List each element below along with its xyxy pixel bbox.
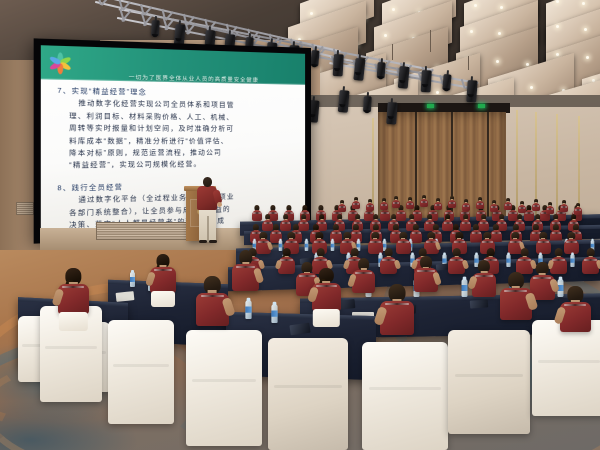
banquet-chair-cover [186, 330, 262, 446]
speaker-leg-seam [207, 216, 209, 242]
person-polo-shirt [448, 200, 456, 208]
ceiling-downlight [586, 56, 589, 59]
speaker-hand [217, 202, 222, 207]
speaker-shoe-left [199, 240, 207, 243]
exit-sign-right [478, 104, 485, 108]
person-polo-shirt [392, 200, 400, 208]
banquet-chair-cover [532, 320, 600, 416]
audience-member [352, 258, 375, 294]
slide-text-line: 周转等实时报量和计划空间，及时准确分析可 [57, 123, 297, 136]
audience-member [406, 197, 414, 209]
wall-access-panel [16, 202, 34, 215]
person-polo-shirt [476, 201, 484, 209]
lamp-body [338, 90, 350, 113]
person-polo-shirt [490, 204, 498, 212]
water-bottle [506, 254, 510, 267]
ceiling-dropper-rod [468, 56, 469, 70]
person-white-trousers [151, 291, 175, 307]
person-polo-shirt [58, 284, 89, 315]
audience-member [352, 197, 360, 209]
speaker-shoe-right [209, 240, 217, 243]
lamp-body [398, 66, 410, 89]
banquet-chair-cover [108, 320, 174, 424]
ceiling-downlight [526, 63, 529, 66]
ceiling-downlight [436, 91, 439, 94]
water-bottle [331, 240, 335, 251]
ceiling-downlight [392, 8, 395, 11]
person-polo-shirt [574, 207, 582, 215]
person-polo-shirt [504, 202, 512, 210]
person-white-trousers [313, 309, 339, 327]
person-polo-shirt [560, 204, 568, 212]
water-bottle [305, 240, 309, 251]
audience-member [500, 272, 532, 321]
lamp-body [466, 80, 478, 103]
speaker-head [203, 177, 212, 187]
audience-member [380, 284, 414, 336]
audience-member [472, 260, 496, 298]
slide-text-line: 料库成本“数据”，精准分析进行“价值评估、 [57, 135, 297, 147]
ceiling-downlight [474, 4, 477, 7]
audience-member [490, 200, 498, 212]
audience-member [560, 286, 591, 333]
person-polo-shirt [532, 203, 540, 211]
person-polo-shirt [396, 239, 411, 254]
audience-member [396, 232, 411, 254]
audience-member [462, 199, 470, 211]
audience-member [150, 254, 176, 294]
water-bottle [462, 279, 468, 297]
audience-member [366, 199, 374, 211]
water-bottle [271, 304, 277, 323]
water-bottle [130, 272, 135, 287]
person-polo-shirt [462, 203, 470, 211]
slide-header-band: 一切为了医界全体从业人员的高质量安全健康 [41, 45, 305, 85]
banquet-chair-cover [448, 330, 530, 434]
water-bottle [570, 254, 574, 267]
audience-member [448, 196, 456, 208]
banquet-chair-cover [268, 338, 348, 450]
person-polo-shirt [560, 302, 591, 333]
audience-member [380, 198, 388, 210]
lamp-body [386, 102, 398, 125]
audience-member [546, 202, 554, 214]
person-polo-shirt [536, 239, 551, 254]
ceiling-downlight [584, 28, 587, 31]
person-polo-shirt [366, 203, 374, 211]
audience-member [560, 200, 568, 212]
person-polo-shirt [434, 202, 442, 210]
person-polo-shirt [380, 202, 388, 210]
audience-member [196, 276, 229, 326]
person-polo-shirt [380, 301, 414, 335]
person-polo-shirt [352, 201, 360, 209]
ceiling-downlight [384, 34, 387, 37]
audience-member [532, 199, 540, 211]
audience-member [278, 248, 295, 274]
audience-member [434, 198, 442, 210]
ceiling-downlight [556, 0, 559, 3]
audience-member [582, 248, 599, 274]
banquet-chair-cover [362, 342, 448, 450]
audience-member [448, 248, 465, 274]
stage-radiator-grille-left [96, 222, 188, 240]
audience-member [232, 250, 259, 292]
person-polo-shirt [546, 206, 554, 214]
slide-header-title: 一切为了医界全体从业人员的高质量安全健康 [81, 47, 301, 90]
lamp-body [421, 70, 432, 92]
exit-sign-left [427, 104, 434, 108]
lamp-body [333, 54, 344, 76]
audience-member [536, 232, 551, 254]
audience-member [252, 205, 262, 221]
audience-member [58, 268, 89, 315]
person-polo-shirt [252, 210, 262, 220]
audience-member [414, 256, 438, 293]
person-polo-shirt [278, 257, 295, 274]
audience-member [420, 195, 428, 207]
person-white-trousers [59, 312, 87, 331]
person-polo-shirt [518, 205, 526, 213]
smartphone [470, 299, 489, 308]
audience-member [504, 198, 512, 210]
person-polo-shirt [352, 270, 375, 293]
person-polo-shirt [406, 201, 414, 209]
ceiling-downlight [470, 30, 473, 33]
ceiling-downlight [530, 86, 533, 89]
person-polo-shirt [420, 199, 428, 207]
pinwheel-flower-logo [47, 50, 73, 75]
audience-member [392, 196, 400, 208]
ceiling-dropper-rod [392, 44, 393, 60]
person-polo-shirt [338, 204, 346, 212]
audience-member [476, 197, 484, 209]
wall-seam-3 [487, 112, 489, 224]
audience-member [574, 203, 582, 215]
audience-member [380, 248, 397, 274]
audience-member [518, 201, 526, 213]
conference-hall-photo: 一切为了医界全体从业人员的高质量安全健康 7、实现“精益经营”理念推动数字化经营… [0, 0, 600, 450]
audience-member [338, 200, 346, 212]
ceiling-dropper-rod [430, 30, 431, 52]
notepad [116, 291, 135, 302]
water-bottle [245, 300, 251, 319]
presentation-slide: 一切为了医界全体从业人员的高质量安全健康 7、实现“精益经营”理念推动数字化经营… [41, 45, 305, 237]
person-polo-shirt [150, 267, 176, 293]
ceiling-downlight [310, 12, 313, 15]
audience-member [312, 268, 341, 312]
